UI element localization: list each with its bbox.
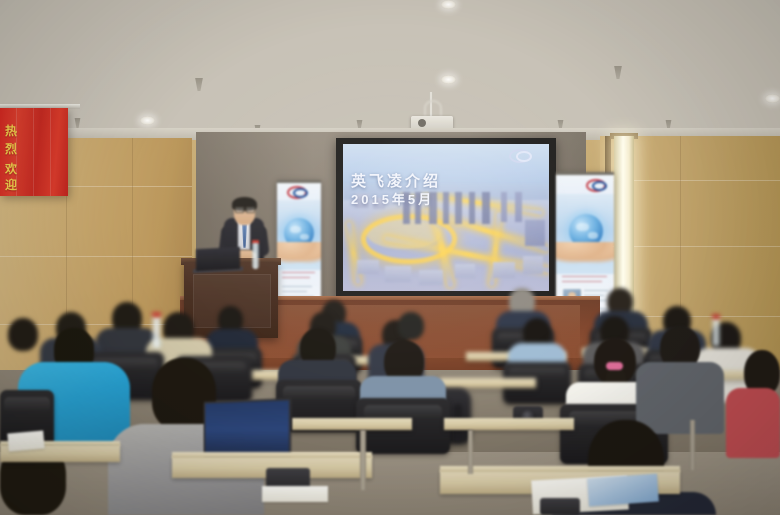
ceiling-spotlight xyxy=(140,116,155,125)
water-bottle xyxy=(252,243,259,269)
water-bottle-cap xyxy=(152,312,161,317)
slide-building xyxy=(469,192,475,224)
ceiling-spotlight xyxy=(441,0,456,9)
eyeglasses-icon xyxy=(235,207,254,211)
ceiling-spotlight xyxy=(441,75,456,84)
slide-road xyxy=(346,222,361,284)
desk-leg xyxy=(360,430,366,490)
banner-char-1: 热 xyxy=(5,122,17,139)
banner-char-3: 欢 xyxy=(5,160,17,177)
slide-building xyxy=(357,260,379,274)
slide-building xyxy=(523,256,543,274)
banner-top-rail xyxy=(556,172,614,175)
printed-handout xyxy=(587,474,659,507)
projector-lens xyxy=(418,119,426,127)
desk xyxy=(440,378,536,388)
desk-edge xyxy=(440,466,680,472)
slide-building xyxy=(501,192,507,222)
infineon-logo xyxy=(509,149,541,160)
panel-seam xyxy=(0,256,192,257)
water-bottle-cap xyxy=(712,314,720,319)
infineon-logo xyxy=(287,186,311,196)
slide-building xyxy=(455,192,462,224)
projector-mount-arm xyxy=(424,100,442,116)
slide-date: 2015年5月 xyxy=(351,189,434,208)
slide-building xyxy=(455,264,475,278)
slide-building xyxy=(385,266,411,282)
paper-sheet xyxy=(7,430,44,451)
desk xyxy=(444,418,574,430)
slide-building xyxy=(515,192,522,222)
banner-char-2: 烈 xyxy=(5,140,17,157)
red-welcome-banner: 热 烈 欢 迎 xyxy=(0,108,68,196)
slide-title: 英飞凌介绍 xyxy=(351,170,441,191)
slide-building xyxy=(493,262,515,278)
desk xyxy=(292,418,412,430)
smartphone xyxy=(540,498,580,515)
lecture-hall-photo: 热 烈 欢 迎 xyxy=(0,0,780,515)
presenter-laptop xyxy=(196,247,240,271)
banner-top-rail xyxy=(277,180,321,183)
banner-hands-graphic xyxy=(277,242,321,264)
desk-edge xyxy=(172,452,372,458)
slide-building xyxy=(525,220,545,246)
desk-leg xyxy=(690,420,695,470)
slide-building xyxy=(419,270,443,285)
water-bottle xyxy=(152,316,161,348)
desk-leg xyxy=(468,430,473,474)
infineon-logo xyxy=(586,179,610,189)
water-bottle xyxy=(712,318,720,346)
ceiling-spotlight xyxy=(765,94,780,103)
projection-screen: 英飞凌介绍 2015年5月 xyxy=(343,144,549,291)
banner-hands-graphic xyxy=(556,242,614,264)
slide-building xyxy=(443,192,449,224)
banner-char-4: 迎 xyxy=(5,176,17,193)
paper-sheet xyxy=(262,486,328,502)
slide-building xyxy=(482,192,490,224)
hair-tie xyxy=(606,362,623,370)
